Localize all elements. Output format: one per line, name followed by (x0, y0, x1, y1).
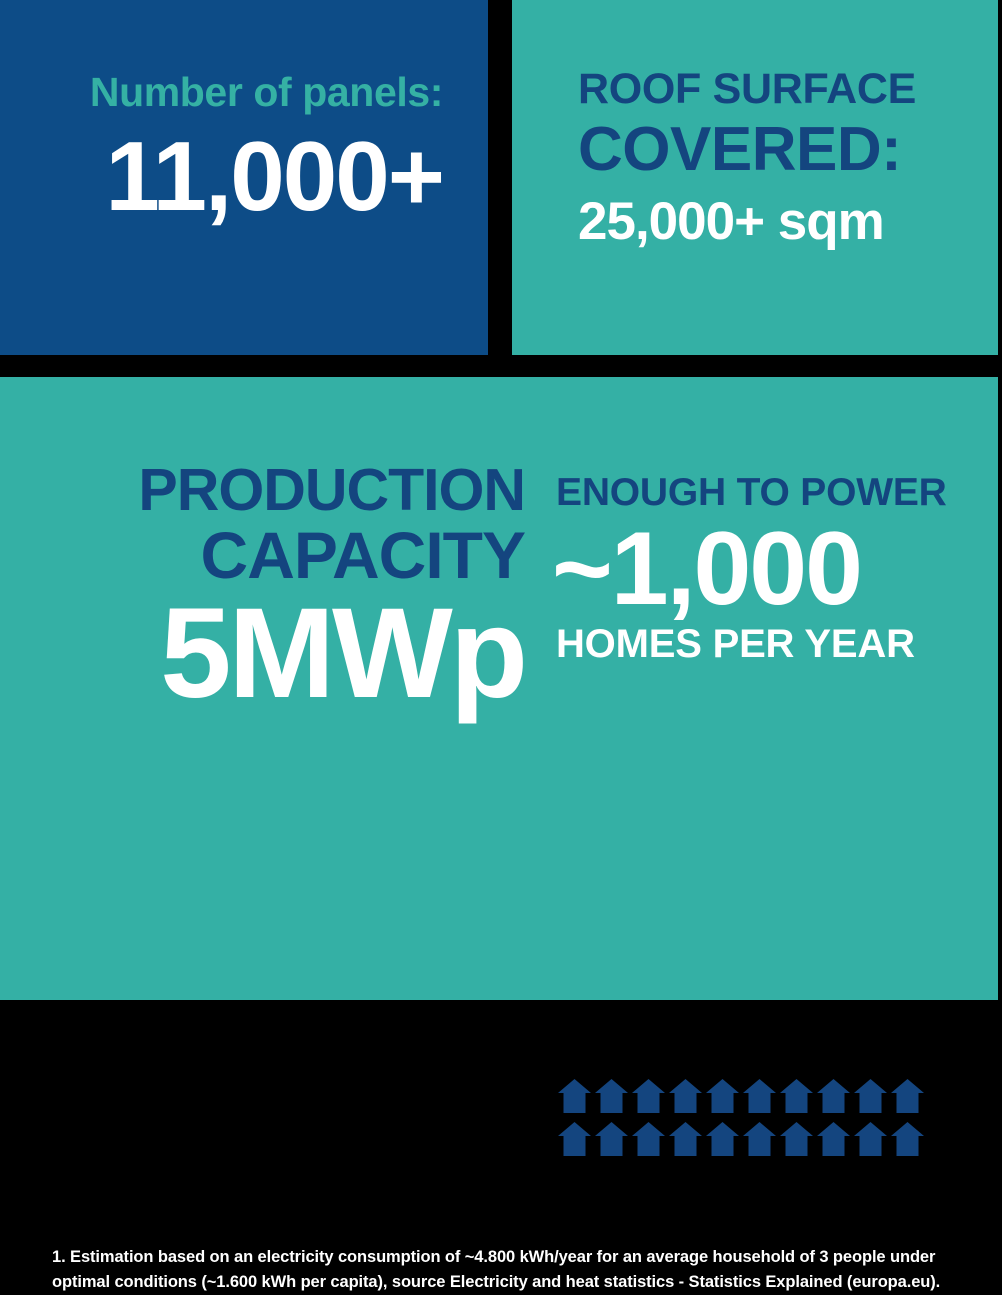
production-capacity-value: 5MWp (50, 590, 525, 718)
panel-number-of-panels: Number of panels: 11,000+ (0, 0, 488, 355)
house-icon (558, 1077, 591, 1115)
roof-surface-content: ROOF SURFACE COVERED: 25,000+ sqm (578, 68, 916, 250)
homes-powered-content: ENOUGH TO POWER ~1,000 HOMES PER YEAR (556, 473, 946, 664)
number-of-panels-label: Number of panels: (90, 72, 443, 113)
house-icon (891, 1120, 924, 1158)
homes-powered-sublabel: HOMES PER YEAR (556, 624, 946, 664)
number-of-panels-value: 11,000+ (90, 125, 443, 228)
house-icon (669, 1120, 702, 1158)
roof-surface-heading-line2: COVERED: (578, 117, 916, 182)
panel-roof-surface-covered: ROOF SURFACE COVERED: 25,000+ sqm (512, 0, 998, 355)
house-icon (706, 1120, 739, 1158)
house-icon (743, 1077, 776, 1115)
house-icon (891, 1077, 924, 1115)
house-icon (558, 1120, 591, 1158)
footnote-text: 1. Estimation based on an electricity co… (52, 1245, 962, 1295)
house-icon (595, 1120, 628, 1158)
house-icon (780, 1120, 813, 1158)
production-capacity-heading-line2: CAPACITY (50, 522, 525, 588)
house-icon (632, 1120, 665, 1158)
house-icon (817, 1120, 850, 1158)
house-icon (854, 1120, 887, 1158)
house-icon (780, 1077, 813, 1115)
production-capacity-content: PRODUCTION CAPACITY 5MWp (50, 462, 525, 718)
homes-powered-label: ENOUGH TO POWER (556, 473, 946, 512)
house-icon (669, 1077, 702, 1115)
homes-powered-value: ~1,000 (552, 516, 946, 622)
panel-production-and-homes: PRODUCTION CAPACITY 5MWp ENOUGH TO POWER… (0, 377, 998, 1000)
house-icon (817, 1077, 850, 1115)
house-pictogram-row (558, 1120, 934, 1158)
production-capacity-heading-line1: PRODUCTION (50, 462, 525, 518)
house-pictogram-row (558, 1077, 934, 1115)
roof-surface-value: 25,000+ sqm (578, 194, 916, 250)
number-of-panels-content: Number of panels: 11,000+ (90, 72, 443, 228)
house-icon (854, 1077, 887, 1115)
house-icon (595, 1077, 628, 1115)
house-icon (743, 1120, 776, 1158)
house-icon (706, 1077, 739, 1115)
house-pictogram-grid (558, 1077, 934, 1163)
roof-surface-heading-line1: ROOF SURFACE (578, 68, 916, 111)
house-icon (632, 1077, 665, 1115)
